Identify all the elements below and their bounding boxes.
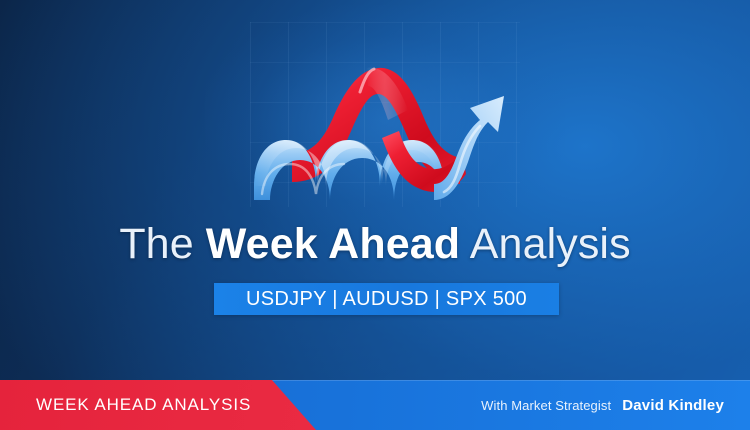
title-part-analysis: Analysis (460, 220, 631, 268)
title-part-week-ahead: Week Ahead (206, 220, 460, 268)
instruments-badge-label: USDJPY | AUDUSD | SPX 500 (246, 288, 527, 311)
blue-rising-arrow (434, 96, 504, 200)
footer-credit: With Market Strategist David Kindley (481, 380, 724, 430)
footer-credit-prefix: With Market Strategist (481, 398, 611, 413)
footer-category-label: WEEK AHEAD ANALYSIS (36, 380, 251, 430)
wave-chart-logo (248, 34, 506, 202)
instruments-badge: USDJPY | AUDUSD | SPX 500 (214, 283, 559, 315)
page-title: The Week Ahead Analysis (0, 218, 750, 270)
week-ahead-banner: The Week Ahead Analysis USDJPY | AUDUSD … (0, 0, 750, 430)
footer-bar: WEEK AHEAD ANALYSIS With Market Strategi… (0, 380, 750, 430)
footer-credit-name: David Kindley (622, 397, 724, 414)
title-part-the: The (119, 220, 205, 268)
